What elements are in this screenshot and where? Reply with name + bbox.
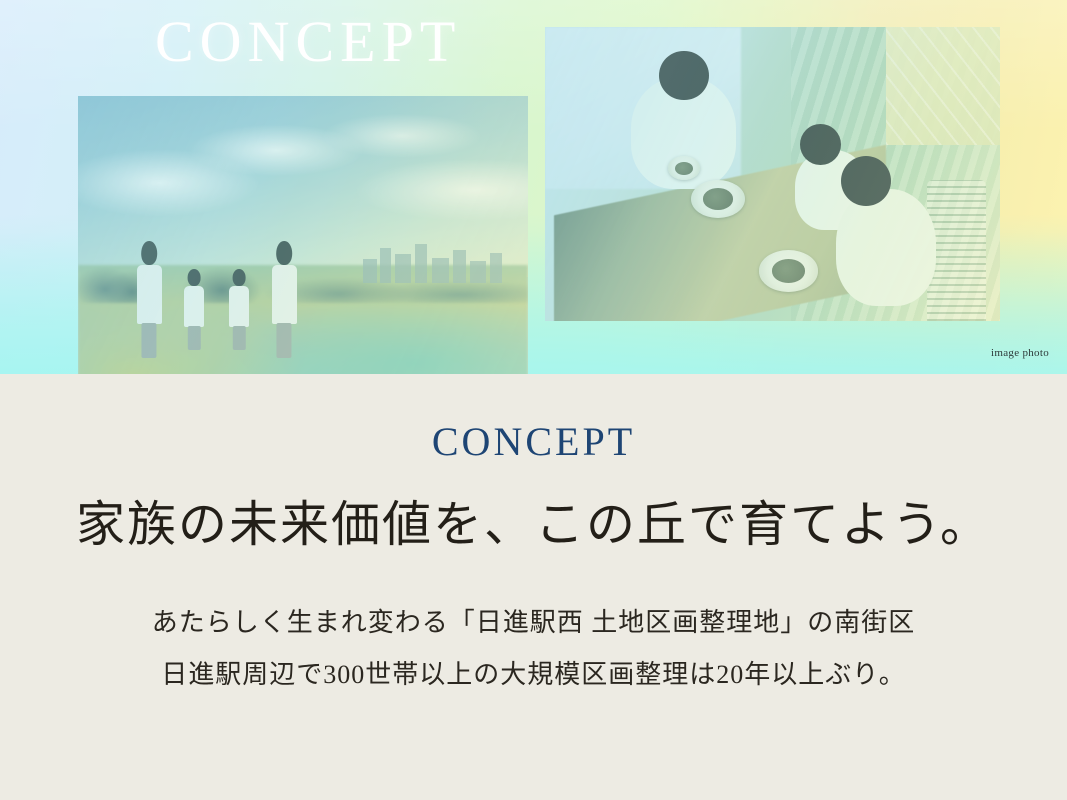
hero-concept-wordmark: CONCEPT: [155, 12, 461, 73]
photo-lighten-overlay: [545, 27, 1000, 321]
hero-section: CONCEPT image photo: [0, 0, 1067, 374]
family-dining-table-photo: [545, 27, 1000, 321]
concept-content-section: CONCEPT 家族の未来価値を、この丘で育てよう。 あたらしく生まれ変わる「日…: [0, 374, 1067, 800]
family-walking-outdoors-photo: [78, 96, 528, 374]
page-title: 家族の未来価値を、この丘で育てよう。: [0, 496, 1067, 555]
lead-line-1: あたらしく生まれ変わる「日進駅西 土地区画整理地」の南街区: [0, 597, 1067, 649]
section-label-concept: CONCEPT: [0, 422, 1067, 462]
photo-lighten-overlay: [78, 96, 528, 374]
concept-page: CONCEPT image photo CONCEPT 家族の未来価値を、この丘…: [0, 0, 1067, 800]
image-photo-caption: image photo: [991, 347, 1049, 359]
lead-line-2: 日進駅周辺で300世帯以上の大規模区画整理は20年以上ぶり。: [0, 649, 1067, 701]
lead-paragraph: あたらしく生まれ変わる「日進駅西 土地区画整理地」の南街区 日進駅周辺で300世…: [0, 597, 1067, 701]
